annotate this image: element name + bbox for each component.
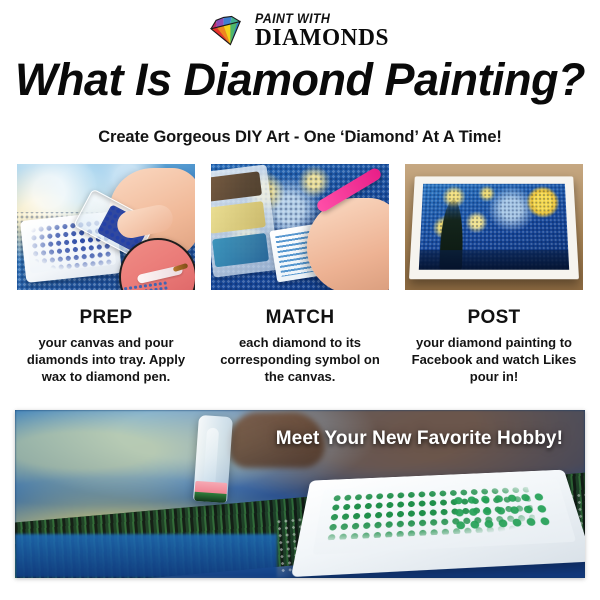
step-match-image <box>211 164 389 290</box>
step-match-title: MATCH <box>211 307 389 329</box>
step-prep-body: your canvas and pour diamonds into tray.… <box>17 334 195 385</box>
banner-drill-tray <box>291 470 585 577</box>
step-prep-title: PREP <box>17 307 195 329</box>
step-prep-image <box>17 164 195 290</box>
post-starry-night-art <box>419 184 569 270</box>
hobby-banner: Meet Your New Favorite Hobby! <box>15 410 585 578</box>
step-match-body: each diamond to its corresponding symbol… <box>211 334 389 385</box>
infographic-page: PAINT WITH DIAMONDS What Is Diamond Pain… <box>0 0 600 600</box>
rainbow-diamond-icon <box>206 14 248 48</box>
brand-line-2: DIAMONDS <box>255 26 389 50</box>
step-match: MATCH each diamond to its corresponding … <box>211 164 389 385</box>
banner-title: Meet Your New Favorite Hobby! <box>276 428 563 450</box>
post-canvas-board <box>409 176 579 279</box>
page-title: What Is Diamond Painting? <box>0 57 600 102</box>
page-subtitle: Create Gorgeous DIY Art - One ‘Diamond’ … <box>0 128 600 147</box>
banner-blue-area <box>15 534 277 578</box>
step-prep: PREP your canvas and pour diamonds into … <box>17 164 195 385</box>
step-post-title: POST <box>405 307 583 329</box>
step-post-image <box>405 164 583 290</box>
steps-row: PREP your canvas and pour diamonds into … <box>17 164 583 385</box>
brand-logo: PAINT WITH DIAMONDS <box>0 8 600 54</box>
banner-diamond-pen <box>193 415 233 503</box>
brand-line-1: PAINT WITH <box>255 12 330 26</box>
step-post-body: your diamond painting to Facebook and wa… <box>405 334 583 385</box>
brand-wordmark: PAINT WITH DIAMONDS <box>255 12 393 51</box>
step-post: POST your diamond painting to Facebook a… <box>405 164 583 385</box>
